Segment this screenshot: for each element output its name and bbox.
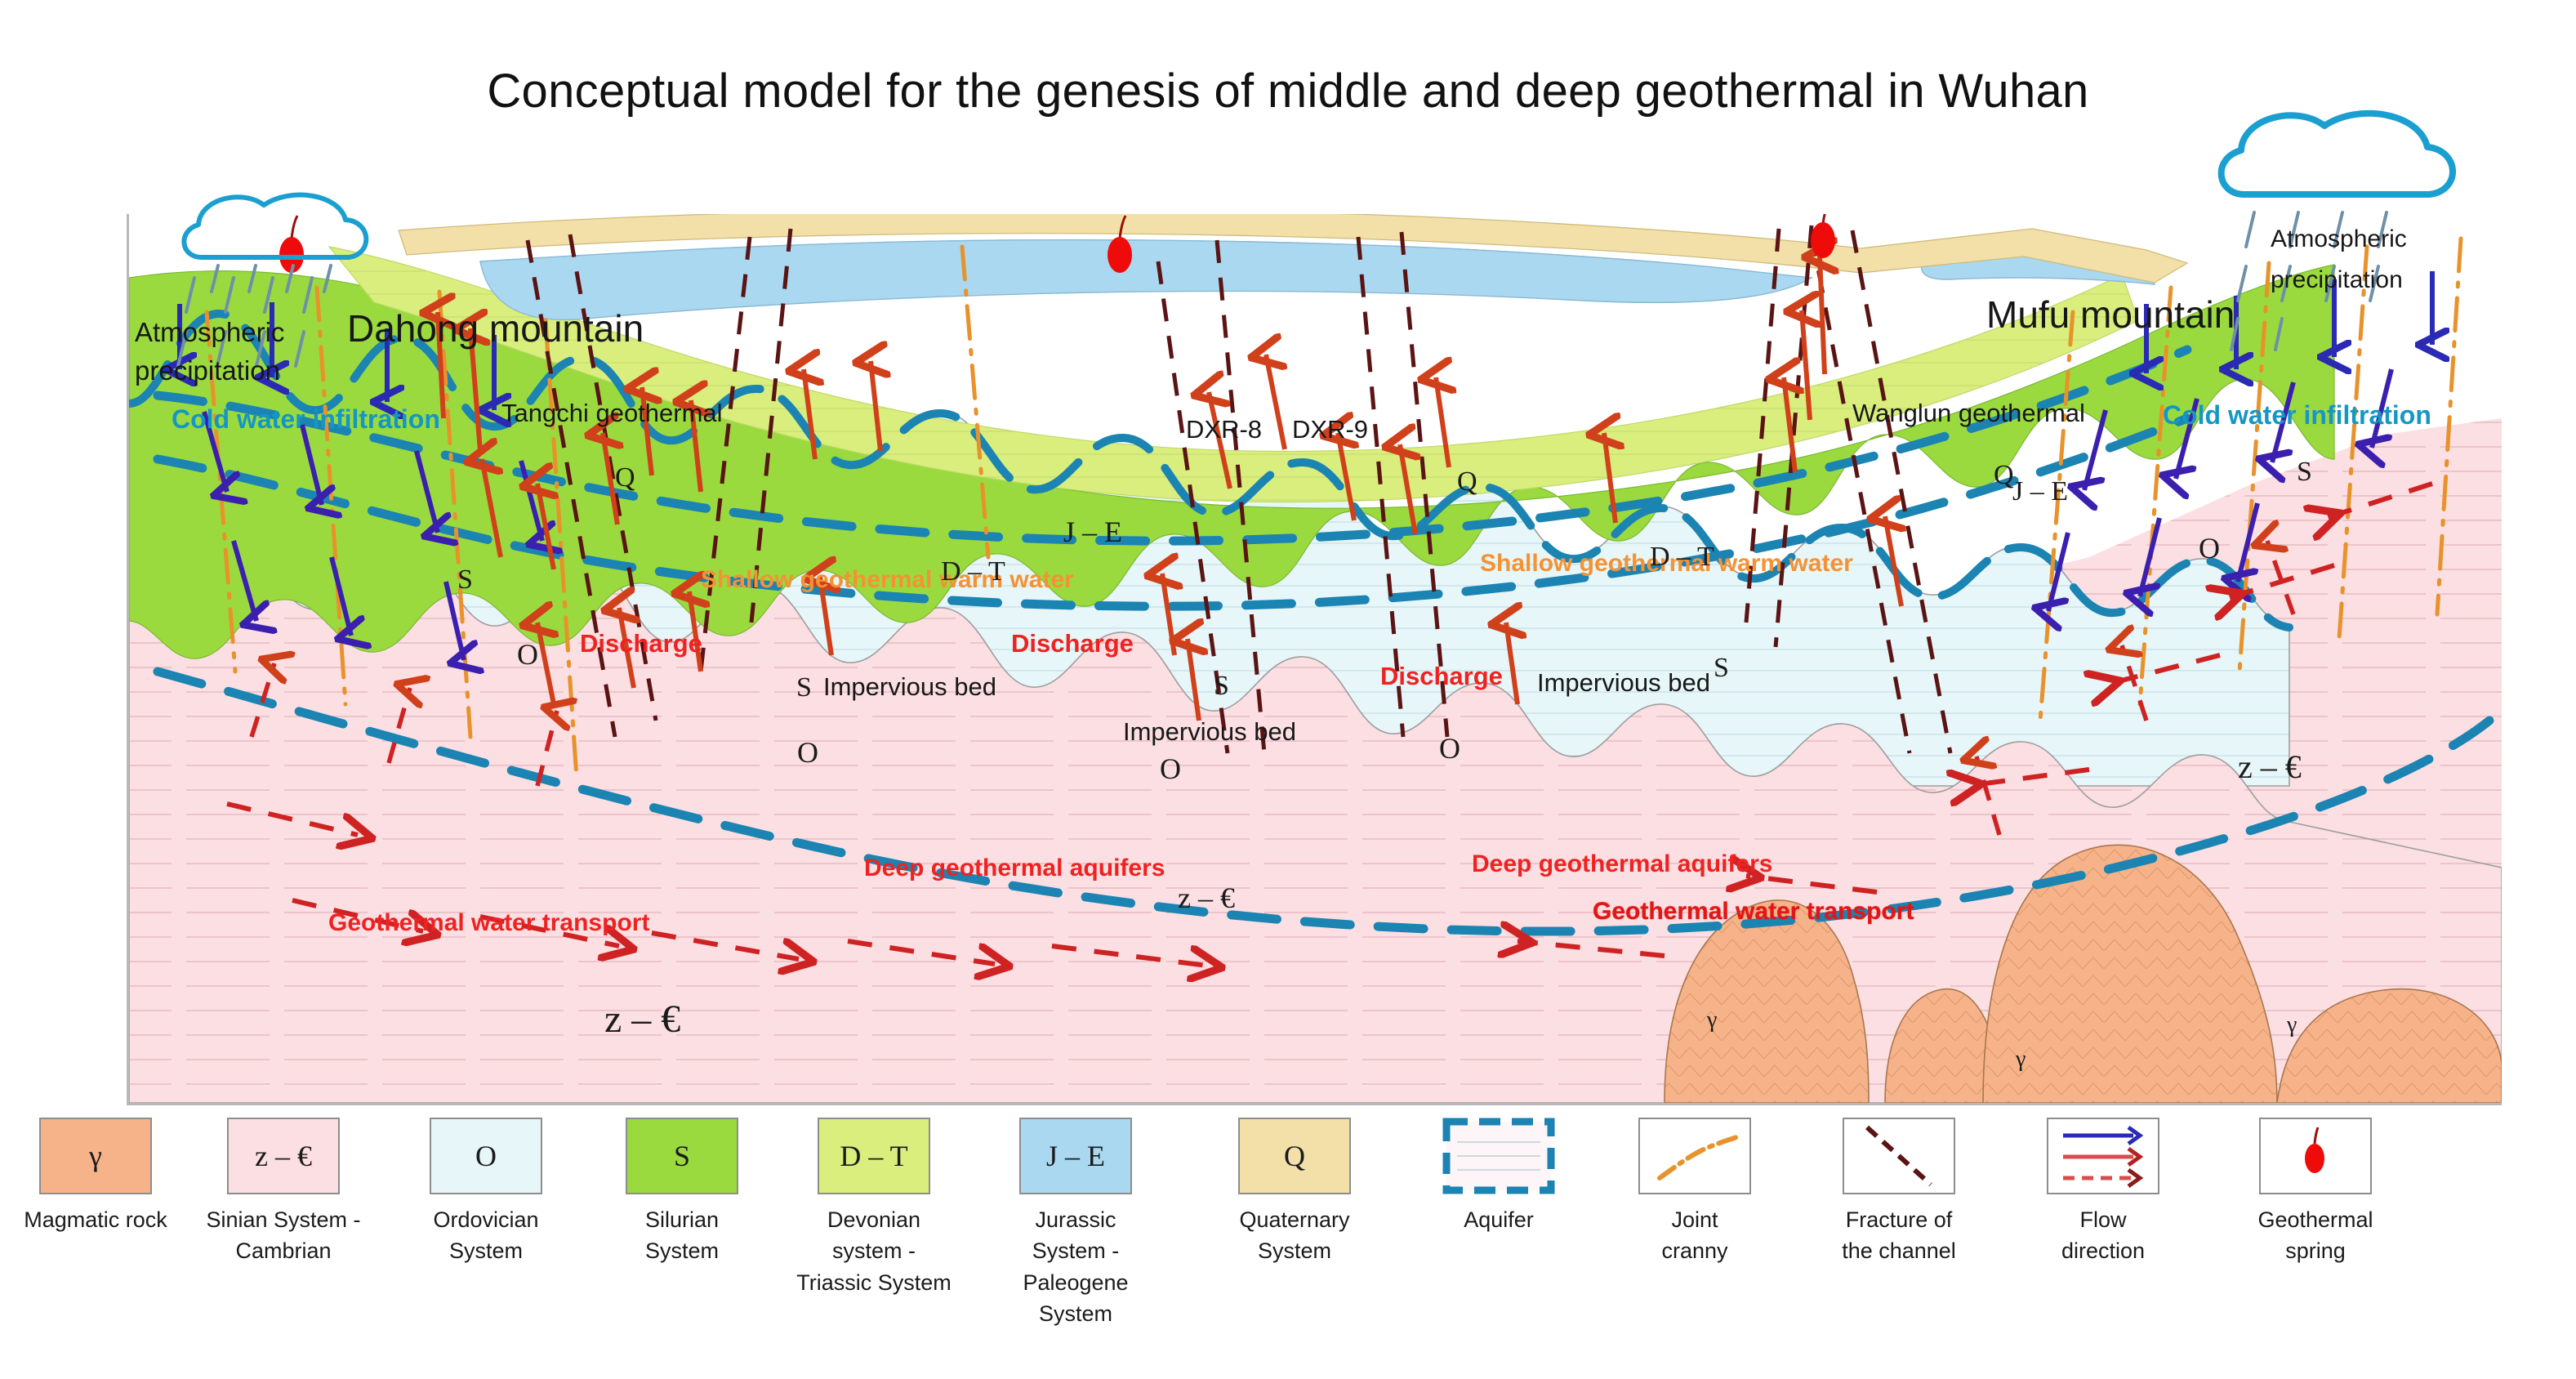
tangchi-geothermal-label: Tangchi geothermal <box>501 399 723 429</box>
legend-item-aquifer: Aquifer <box>1421 1118 1576 1235</box>
legend-item-flow-direction: Flowdirection <box>2026 1118 2181 1267</box>
legend-swatch-flow-direction <box>2047 1118 2159 1194</box>
legend-caption-line: Aquifer <box>1421 1204 1576 1235</box>
legend-caption-line: Geothermal <box>2238 1204 2393 1235</box>
strata-symbol-s-4: S <box>1714 652 1729 685</box>
legend-caption-jurassic-paleogene: Jurassic System -Paleogene System <box>998 1204 1153 1329</box>
strata-symbol-je-2: J – E <box>2012 475 2068 508</box>
legend-caption-line: Sinian System - <box>206 1204 361 1235</box>
geothermal-water-transport-left: Geothermal water transport <box>328 908 649 937</box>
strata-symbol-o-5: O <box>2199 531 2220 565</box>
strata-symbol-je-1: J – E <box>1063 515 1122 549</box>
strata-symbol-zc-2: z – € <box>604 997 680 1043</box>
atmospheric-precipitation-right-line1: Atmospheric <box>2271 225 2407 253</box>
legend-swatch-fracture-of-channel <box>1843 1118 1955 1194</box>
borehole-dxr8-label: DXR-8 <box>1186 415 1262 445</box>
legend-caption-line: spring <box>2238 1235 2393 1266</box>
legend-item-silurian-system: SSilurianSystem <box>604 1118 760 1267</box>
legend-swatch-quaternary-system: Q <box>1238 1118 1351 1194</box>
shallow-geothermal-warm-water-left: Shallow geothermal warm water <box>701 565 1074 594</box>
discharge-label-2: Discharge <box>1011 629 1134 659</box>
legend-caption-line: Flow <box>2026 1204 2181 1235</box>
cold-water-infiltration-left: Cold water infiltration <box>172 404 440 435</box>
legend-caption-line: direction <box>2026 1235 2181 1266</box>
legend-caption-line: Triassic System <box>796 1267 952 1298</box>
strata-symbol-o-2: O <box>797 735 818 770</box>
cold-water-infiltration-right: Cold water infiltration <box>2163 400 2431 431</box>
impervious-bed-label-1: Impervious bed <box>823 672 996 703</box>
deep-geothermal-aquifers-right: Deep geothermal aquifers <box>1472 850 1772 878</box>
strata-symbol-s-2: S <box>796 672 812 704</box>
legend-caption-joint-cranny: Jointcranny <box>1617 1204 1772 1267</box>
legend-caption-flow-direction: Flowdirection <box>2026 1204 2181 1267</box>
strata-symbol-o-1: O <box>517 637 538 672</box>
legend-caption-magmatic-rock: Magmatic rock <box>18 1204 173 1235</box>
strata-symbol-gamma-2: γ <box>2016 1046 2026 1073</box>
legend-caption-ordovician-system: OrdovicianSystem <box>408 1204 564 1267</box>
strata-symbol-dt-2: D – T <box>1650 541 1714 573</box>
strata-symbol-q-1: Q <box>615 462 635 494</box>
legend-caption-line: System <box>604 1235 760 1266</box>
strata-symbol-dt-1: D – T <box>941 556 1005 588</box>
flow-direction-icon <box>2048 1119 2158 1193</box>
legend-item-fracture-of-channel: Fracture ofthe channel <box>1821 1118 1977 1267</box>
deep-geothermal-aquifers-left: Deep geothermal aquifers <box>864 854 1165 882</box>
legend-caption-quaternary-system: QuaternarySystem <box>1217 1204 1372 1267</box>
atmospheric-precipitation-left-line2: precipitation <box>135 355 280 387</box>
legend-item-jurassic-paleogene: J – EJurassic System -Paleogene System <box>998 1118 1153 1329</box>
legend-caption-line: Devonian system - <box>796 1204 952 1267</box>
impervious-bed-label-2: Impervious bed <box>1123 717 1296 748</box>
legend-caption-line: Quaternary <box>1217 1204 1372 1235</box>
legend-caption-geothermal-spring: Geothermalspring <box>2238 1204 2393 1267</box>
atmospheric-precipitation-right-line2: precipitation <box>2271 266 2403 294</box>
legend-item-joint-cranny: Jointcranny <box>1617 1118 1772 1267</box>
strata-symbol-q-3: Q <box>1994 459 2014 492</box>
legend-item-devonian-triassic: D – TDevonian system -Triassic System <box>796 1118 952 1298</box>
legend-caption-line: Cambrian <box>206 1235 361 1266</box>
strata-symbol-zc-1: z – € <box>1178 881 1235 915</box>
legend-caption-sinian-cambrian: Sinian System -Cambrian <box>206 1204 361 1267</box>
legend-caption-line: System <box>1217 1235 1372 1266</box>
legend-caption-line: cranny <box>1617 1235 1772 1266</box>
page-title: Conceptual model for the genesis of midd… <box>0 64 2576 118</box>
legend-item-quaternary-system: QQuaternarySystem <box>1217 1118 1372 1267</box>
strata-symbol-o-3: O <box>1160 752 1181 786</box>
mufu-mountain-label: Mufu mountain <box>1986 292 2235 337</box>
legend-swatch-magmatic-rock: γ <box>39 1118 152 1194</box>
fracture-icon <box>1844 1119 1954 1193</box>
legend-swatch-joint-cranny <box>1638 1118 1751 1194</box>
legend-swatch-geothermal-spring <box>2259 1118 2372 1194</box>
legend-swatch-devonian-triassic: D – T <box>818 1118 930 1194</box>
geothermal-water-transport-right: Geothermal water transport <box>1593 897 1914 926</box>
legend-swatch-aquifer <box>1442 1118 1555 1194</box>
strata-symbol-s-3: S <box>1214 670 1229 703</box>
legend-caption-line: Magmatic rock <box>18 1204 173 1235</box>
legend-caption-line: Joint <box>1617 1204 1772 1235</box>
legend-caption-line: System <box>408 1235 564 1266</box>
legend-caption-line: Silurian <box>604 1204 760 1235</box>
atmospheric-precipitation-left-line1: Atmospheric <box>135 317 284 349</box>
legend-caption-line: Fracture of <box>1821 1204 1977 1235</box>
legend-item-ordovician-system: OOrdovicianSystem <box>408 1118 564 1267</box>
legend: γMagmatic rockz – €Sinian System -Cambri… <box>0 1118 2576 1379</box>
aquifer-icon <box>1442 1118 1555 1194</box>
borehole-dxr9-label: DXR-9 <box>1292 415 1368 445</box>
joint-cranny-icon <box>1640 1119 1749 1193</box>
strata-symbol-gamma-3: γ <box>2287 1011 2297 1038</box>
strata-symbol-gamma-1: γ <box>1707 1006 1717 1033</box>
strata-symbol-s-1: S <box>457 564 473 596</box>
wanglun-geothermal-label: Wanglun geothermal <box>1852 399 2085 429</box>
legend-caption-fracture-of-channel: Fracture ofthe channel <box>1821 1204 1977 1267</box>
legend-caption-line: the channel <box>1821 1235 1977 1266</box>
strata-symbol-s-5: S <box>2297 456 2312 489</box>
legend-item-sinian-cambrian: z – €Sinian System -Cambrian <box>206 1118 361 1267</box>
legend-swatch-sinian-cambrian: z – € <box>227 1118 340 1194</box>
legend-caption-silurian-system: SilurianSystem <box>604 1204 760 1267</box>
strata-symbol-o-4: O <box>1439 731 1460 765</box>
strata-symbol-zc-3: z – € <box>2238 748 2302 786</box>
legend-item-magmatic-rock: γMagmatic rock <box>18 1118 173 1235</box>
legend-caption-line: Ordovician <box>408 1204 564 1235</box>
geothermal-spring-icon <box>2261 1119 2370 1193</box>
discharge-label-3: Discharge <box>1380 662 1503 692</box>
discharge-label-1: Discharge <box>580 629 702 659</box>
legend-caption-devonian-triassic: Devonian system -Triassic System <box>796 1204 952 1298</box>
strata-symbol-q-2: Q <box>1457 466 1477 498</box>
legend-caption-aquifer: Aquifer <box>1421 1204 1576 1235</box>
dahong-mountain-label: Dahong mountain <box>347 306 644 350</box>
legend-swatch-silurian-system: S <box>626 1118 738 1194</box>
legend-swatch-ordovician-system: O <box>430 1118 542 1194</box>
impervious-bed-label-3: Impervious bed <box>1537 668 1710 698</box>
legend-caption-line: Paleogene System <box>998 1267 1153 1330</box>
legend-swatch-jurassic-paleogene: J – E <box>1019 1118 1132 1194</box>
legend-item-geothermal-spring: Geothermalspring <box>2238 1118 2393 1267</box>
legend-caption-line: Jurassic System - <box>998 1204 1153 1267</box>
